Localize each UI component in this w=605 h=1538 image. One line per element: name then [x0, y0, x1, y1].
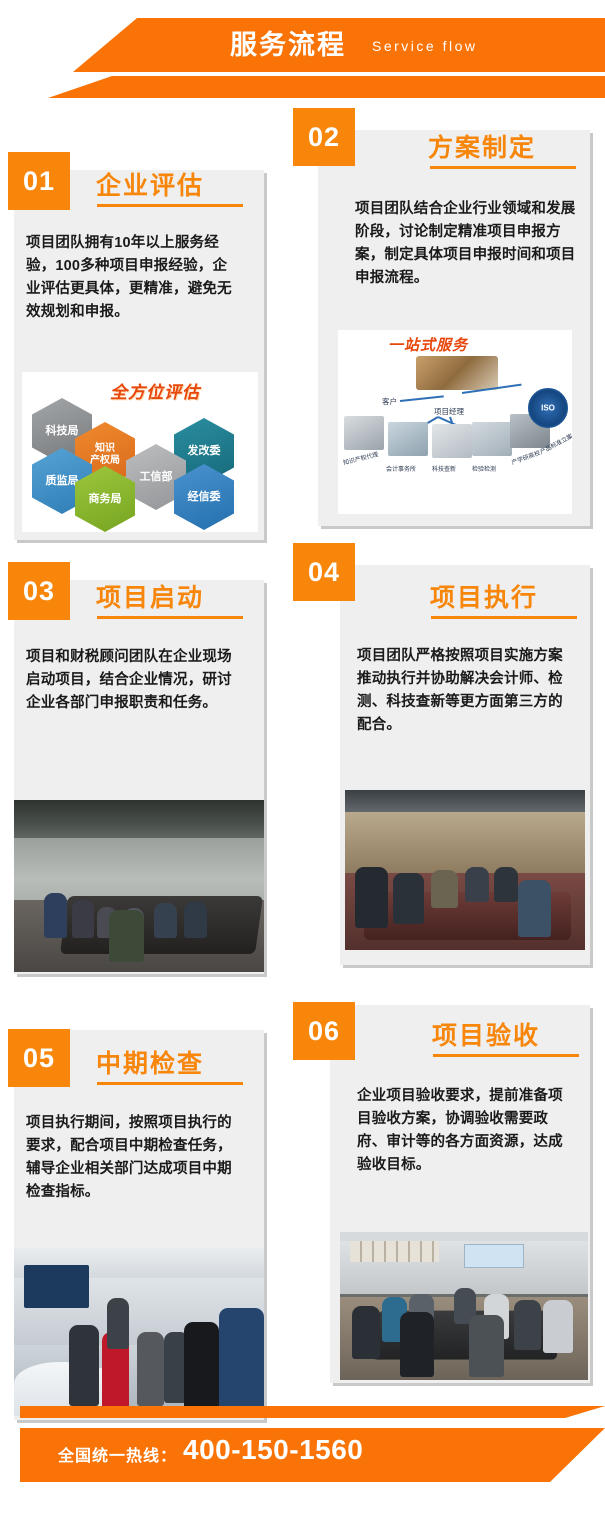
service-node-label-ip: 知识产权代理 — [342, 449, 379, 466]
page-title: 服务流程 — [230, 26, 346, 64]
service-node-label-testing: 检验检测 — [472, 464, 496, 473]
step-number-badge-03: 03 — [8, 562, 70, 620]
step-title-05: 中期检查 — [96, 1044, 204, 1080]
step-title-underline-05 — [97, 1082, 243, 1085]
page-subtitle: Service flow — [372, 38, 477, 54]
step-title-underline-06 — [433, 1054, 579, 1057]
hotline-number[interactable]: 400-150-1560 — [183, 1434, 363, 1466]
step-photo-03-conference-room — [14, 800, 264, 972]
service-center-label-customer: 客户 — [382, 396, 397, 407]
service-node-accounting — [388, 422, 428, 456]
step-number-badge-04: 04 — [293, 543, 355, 601]
iso-seal-text: ISO — [541, 404, 555, 413]
service-node-testing — [472, 422, 512, 456]
step-body-04: 项目团队严格按照项目实施方案推动执行并协助解决会计师、检测、科技查新等更方面第三… — [357, 645, 575, 737]
step-photo-06-boardroom-acceptance — [340, 1232, 588, 1380]
header-banner-stripe — [0, 76, 605, 98]
iso-seal-icon: ISO — [528, 388, 568, 428]
step-title-02: 方案制定 — [428, 128, 536, 164]
step-photo-04-project-meeting — [345, 790, 585, 950]
step-title-01: 企业评估 — [96, 166, 204, 202]
service-node-ip — [344, 416, 384, 450]
one-stop-service-diagram: 一站式服务 客户 项目经理 知识产权代理 会计事务所 科技查新 检验检测 产学研… — [338, 330, 572, 514]
service-node-label-university: 产学研高校 — [510, 448, 541, 467]
step-title-underline-04 — [431, 616, 577, 619]
footer-banner-stripe — [20, 1406, 605, 1418]
step-number-badge-06: 06 — [293, 1002, 355, 1060]
step-body-01: 项目团队拥有10年以上服务经验，100多种项目申报经验，企业评估更具体，更精准，… — [26, 232, 240, 324]
step-title-03: 项目启动 — [96, 578, 204, 614]
hex-evaluation-diagram: 全方位评估 科技局 知识 产权局 发改委 质监局 工信部 商务局 经信委 — [22, 372, 258, 532]
step-title-underline-01 — [97, 204, 243, 207]
page-header: 服务流程 Service flow — [0, 0, 605, 112]
step-number-badge-01: 01 — [8, 152, 70, 210]
step-body-02: 项目团队结合企业行业领域和发展阶段，讨论制定精准项目申报方案，制定具体项目申报时… — [355, 198, 577, 290]
service-hub-photo — [416, 356, 498, 390]
step-body-05: 项目执行期间，按照项目执行的要求，配合项目中期检查任务，辅导企业相关部门达成项目… — [26, 1112, 240, 1204]
service-diagram-title: 一站式服务 — [388, 334, 468, 355]
step-photo-05-showroom-tour — [14, 1248, 264, 1416]
step-body-03: 项目和财税顾问团队在企业现场启动项目，结合企业情况，研讨企业各部门申报职责和任务… — [26, 646, 240, 715]
step-body-06: 企业项目验收要求，提前准备项目验收方案，协调验收需要政府、审计等的各方面资源，达… — [357, 1085, 575, 1177]
step-title-04: 项目执行 — [430, 578, 538, 614]
hex-diagram-title: 全方位评估 — [110, 378, 200, 403]
step-number-badge-02: 02 — [293, 108, 355, 166]
service-node-label-accounting: 会计事务所 — [386, 464, 416, 473]
service-node-novelty — [432, 424, 472, 458]
step-title-underline-03 — [97, 616, 243, 619]
service-node-label-novelty: 科技查新 — [432, 464, 456, 473]
step-title-underline-02 — [430, 166, 576, 169]
page-footer: 全国统一热线： 400-150-1560 — [0, 1406, 605, 1486]
step-title-06: 项目验收 — [432, 1016, 540, 1052]
service-arrow-1 — [400, 395, 444, 402]
step-number-badge-05: 05 — [8, 1029, 70, 1087]
hotline-label: 全国统一热线： — [58, 1442, 177, 1466]
